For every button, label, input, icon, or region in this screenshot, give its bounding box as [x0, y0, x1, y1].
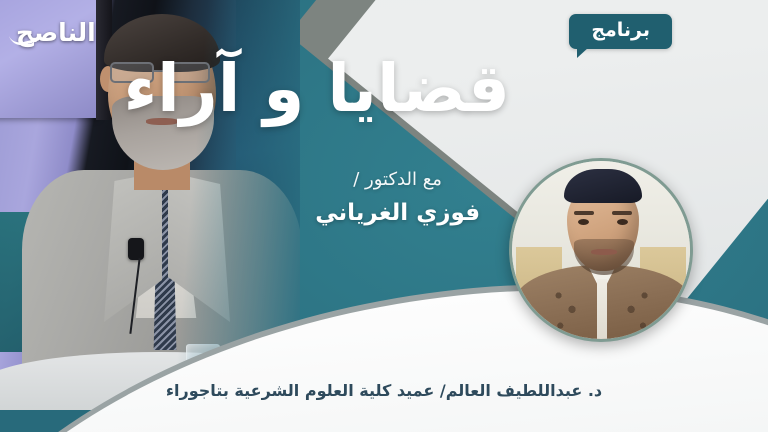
host-name-label: فوزي الغرياني [315, 196, 480, 231]
guest-portrait [509, 158, 693, 342]
guest-eye-left [578, 219, 589, 225]
guest-eye-right [617, 219, 628, 225]
guest-caption: د. عبداللطيف العالم/ عميد كلية العلوم ال… [0, 381, 768, 400]
program-title: قضايا و آراء [123, 52, 510, 126]
host-prefix-label: مع الدكتور / [315, 166, 480, 193]
guest-eyebrow-left [574, 211, 594, 215]
guest-eyebrow-right [612, 211, 632, 215]
broadcast-title-card: الناصح برنامج قضايا و آراء مع الدكتور / … [0, 0, 768, 432]
badge-tail-icon [577, 47, 589, 58]
program-badge: برنامج [569, 14, 672, 49]
program-badge-label: برنامج [569, 14, 672, 49]
guest-robe-placket [597, 279, 607, 342]
program-host-block: مع الدكتور / فوزي الغرياني [315, 166, 480, 231]
channel-logo: الناصح [16, 20, 96, 45]
guest-robe-embroidery-right [616, 285, 658, 342]
guest-mouth [591, 249, 617, 255]
guest-robe-embroidery-left [546, 285, 588, 342]
